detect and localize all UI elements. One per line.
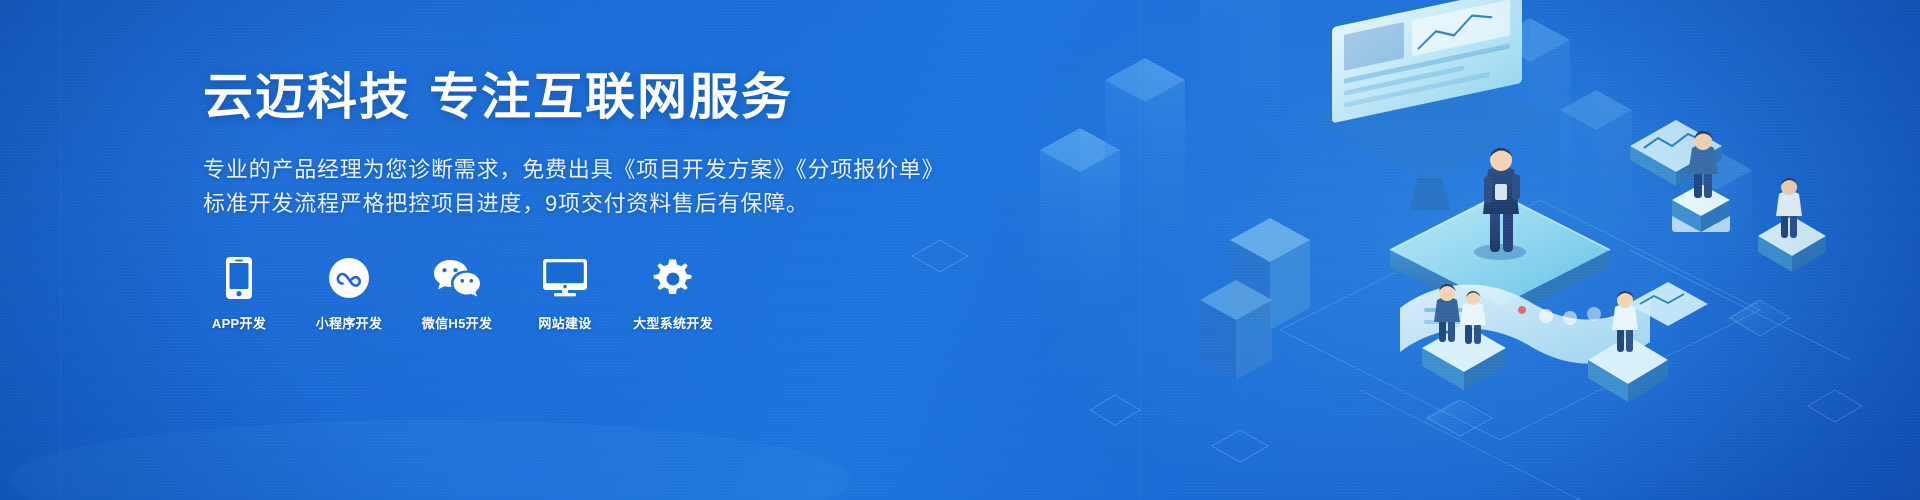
subtitle-line-2: 标准开发流程严格把控项目进度，9项交付资料售后有保障。 <box>203 187 963 221</box>
mini-program-icon <box>329 257 369 299</box>
service-item-website[interactable]: 网站建设 <box>529 257 601 332</box>
gear-icon <box>652 257 694 299</box>
service-item-miniprogram[interactable]: 小程序开发 <box>313 257 385 332</box>
service-label-miniprogram: 小程序开发 <box>316 313 383 332</box>
service-label-website: 网站建设 <box>538 313 591 332</box>
service-item-large-system[interactable]: 大型系统开发 <box>637 257 709 332</box>
isometric-illustration <box>1160 0 1920 500</box>
service-item-app[interactable]: APP开发 <box>203 257 275 332</box>
headline-brand: 云迈科技 <box>203 69 411 125</box>
banner-content: 云迈科技专注互联网服务 专业的产品经理为您诊断需求，免费出具《项目开发方案》《分… <box>203 68 963 332</box>
headline-tagline: 专注互联网服务 <box>429 69 793 125</box>
service-list: APP开发 小程序开发 <box>203 257 963 332</box>
monitor-icon <box>543 257 587 299</box>
mobile-phone-icon <box>226 257 252 299</box>
service-item-wechat-h5[interactable]: 微信H5开发 <box>421 257 493 332</box>
subtitle-line-1: 专业的产品经理为您诊断需求，免费出具《项目开发方案》《分项报价单》 <box>203 153 963 187</box>
service-label-app: APP开发 <box>212 313 266 332</box>
hero-banner: 云迈科技专注互联网服务 专业的产品经理为您诊断需求，免费出具《项目开发方案》《分… <box>0 0 1920 500</box>
service-label-wechat-h5: 微信H5开发 <box>422 313 492 332</box>
wechat-icon <box>433 257 481 299</box>
banner-headline: 云迈科技专注互联网服务 <box>203 68 963 127</box>
service-label-large-system: 大型系统开发 <box>633 313 713 332</box>
banner-subtitle: 专业的产品经理为您诊断需求，免费出具《项目开发方案》《分项报价单》 标准开发流程… <box>203 153 963 221</box>
